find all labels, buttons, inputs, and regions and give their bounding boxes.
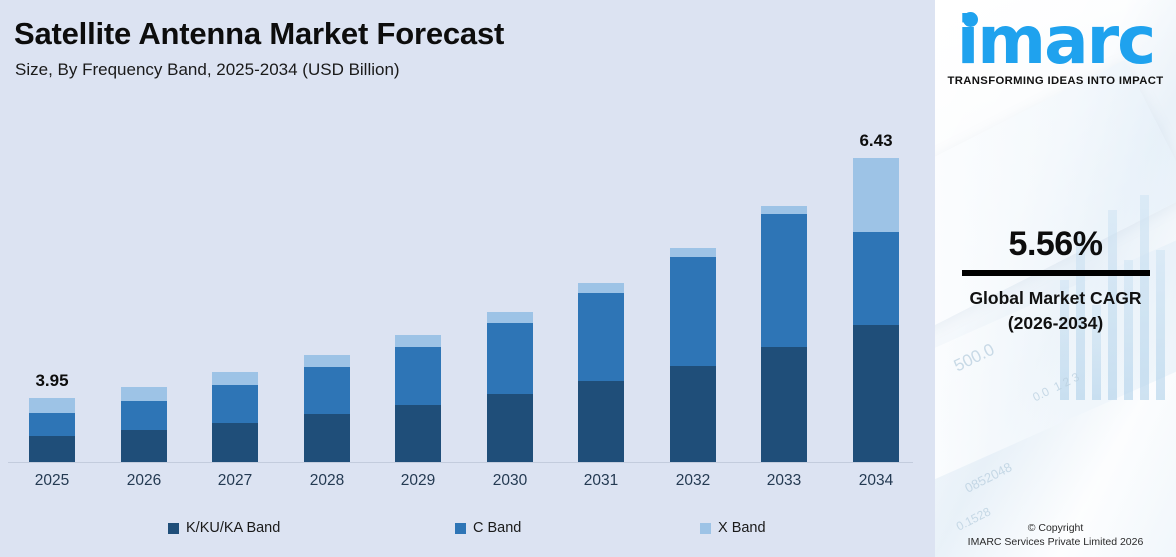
bar-segment-c-band-2031[interactable] [578,293,624,381]
bar-segment-x-band-2027[interactable] [212,372,258,385]
bar-segment-x-band-2032[interactable] [670,248,716,257]
legend-label: X Band [718,520,766,536]
logo-mark: imarc [957,8,1155,74]
x-axis-tick-2031: 2031 [561,472,641,490]
imarc-logo[interactable]: imarc TRANSFORMING IDEAS INTO IMPACT [935,8,1176,87]
bar-2030[interactable] [487,312,533,462]
bar-segment-x-band-2028[interactable] [304,355,350,367]
bar-segment-k-band-2030[interactable] [487,394,533,462]
copyright-notice: © Copyright IMARC Services Private Limit… [935,521,1176,549]
bar-2033[interactable] [761,206,807,462]
bar-value-label-2025: 3.95 [12,371,92,391]
legend-label: K/KU/KA Band [186,520,280,536]
bar-segment-k-band-2026[interactable] [121,430,167,462]
bar-segment-k-band-2028[interactable] [304,414,350,462]
cagr-period: (2026-2034) [935,311,1176,336]
infographic-root: Satellite Antenna Market Forecast Size, … [0,0,1176,557]
x-axis-tick-2032: 2032 [653,472,733,490]
bar-segment-k-band-2029[interactable] [395,405,441,462]
bar-segment-x-band-2025[interactable] [29,398,75,413]
x-axis-tick-2029: 2029 [378,472,458,490]
legend-item-1[interactable]: C Band [455,520,521,536]
brand-panel: 500.0 0.0 1 2 3 0852048 0.1528 imarc TRA… [935,0,1176,557]
bar-segment-c-band-2030[interactable] [487,323,533,394]
axis-baseline [8,462,913,463]
bar-2031[interactable] [578,283,624,462]
cagr-block: 5.56% Global Market CAGR (2026-2034) [935,224,1176,336]
copyright-line-1: © Copyright [935,521,1176,535]
bar-segment-x-band-2029[interactable] [395,335,441,347]
bar-segment-k-band-2027[interactable] [212,423,258,462]
bar-segment-c-band-2034[interactable] [853,232,899,325]
bar-value-label-2034: 6.43 [836,131,916,151]
bar-segment-x-band-2033[interactable] [761,206,807,214]
bar-2025[interactable] [29,398,75,462]
cagr-label: Global Market CAGR [935,286,1176,311]
bar-2028[interactable] [304,355,350,462]
bar-2029[interactable] [395,335,441,462]
cagr-value: 5.56% [935,224,1176,264]
cagr-divider [962,270,1150,276]
legend-swatch-icon [700,523,711,534]
bar-segment-c-band-2033[interactable] [761,214,807,347]
bar-segment-k-band-2033[interactable] [761,347,807,462]
legend-item-2[interactable]: X Band [700,520,766,536]
logo-wordmark: imarc [957,2,1155,79]
bar-segment-c-band-2028[interactable] [304,367,350,414]
bar-segment-k-band-2034[interactable] [853,325,899,462]
bar-segment-x-band-2026[interactable] [121,387,167,401]
legend-swatch-icon [168,523,179,534]
bar-2034[interactable] [853,158,899,462]
copyright-line-2: IMARC Services Private Limited 2026 [935,535,1176,549]
x-axis-tick-2027: 2027 [195,472,275,490]
bar-2026[interactable] [121,387,167,462]
x-axis-tick-2034: 2034 [836,472,916,490]
bar-segment-x-band-2030[interactable] [487,312,533,323]
chart-panel: Satellite Antenna Market Forecast Size, … [0,0,925,557]
bar-segment-k-band-2032[interactable] [670,366,716,462]
bar-segment-k-band-2025[interactable] [29,436,75,462]
bar-segment-c-band-2032[interactable] [670,257,716,366]
x-axis-tick-2028: 2028 [287,472,367,490]
bar-segment-k-band-2031[interactable] [578,381,624,462]
legend-item-0[interactable]: K/KU/KA Band [168,520,280,536]
stacked-bar-chart: 3.95202520262027202820292030203120322033… [0,0,925,557]
bar-segment-x-band-2031[interactable] [578,283,624,293]
bar-2032[interactable] [670,248,716,462]
legend-swatch-icon [455,523,466,534]
bar-2027[interactable] [212,372,258,462]
x-axis-tick-2025: 2025 [12,472,92,490]
logo-dot-icon [963,12,978,27]
bar-segment-x-band-2034[interactable] [853,158,899,232]
legend-label: C Band [473,520,521,536]
x-axis-tick-2030: 2030 [470,472,550,490]
chart-legend: K/KU/KA BandC BandX Band [0,518,925,544]
bar-segment-c-band-2029[interactable] [395,347,441,405]
bar-segment-c-band-2027[interactable] [212,385,258,423]
bar-segment-c-band-2025[interactable] [29,413,75,436]
x-axis-tick-2026: 2026 [104,472,184,490]
x-axis-tick-2033: 2033 [744,472,824,490]
bar-segment-c-band-2026[interactable] [121,401,167,430]
